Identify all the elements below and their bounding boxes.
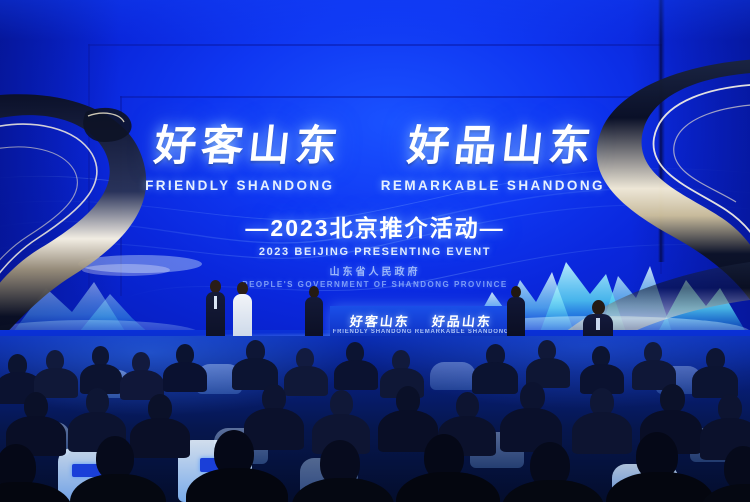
audience-area (0, 336, 750, 502)
audience-body (334, 360, 378, 390)
audience-body (244, 408, 304, 450)
event-stage-photo: 好客山东 好品山东 FRIENDLY SHANDONG REMARKABLE S… (0, 0, 750, 502)
audience-head (330, 390, 353, 417)
audience-body (472, 362, 518, 394)
audience-body (284, 366, 328, 396)
podium-cn-right: 好品山东 (431, 315, 493, 330)
podium-cn-left: 好客山东 (349, 315, 411, 330)
podium-screen-english: FRIENDLY SHANDONG REMARKABLE SHANDONG (330, 329, 512, 335)
audience-head (456, 392, 479, 419)
stage-person-host-male (204, 280, 228, 342)
audience-body (572, 412, 632, 454)
audience-head (660, 384, 685, 413)
audience-head (520, 382, 545, 411)
stage-person-right (505, 286, 527, 342)
stage-person-host-female (231, 282, 255, 342)
audience-body (130, 418, 190, 458)
chair-back (430, 362, 476, 390)
podium-screen-chinese: 好客山东 好品山东 (330, 311, 512, 330)
audience-head (92, 346, 109, 366)
stage-person-staff (303, 286, 325, 342)
audience-head (86, 388, 109, 415)
audience-body (163, 362, 207, 392)
